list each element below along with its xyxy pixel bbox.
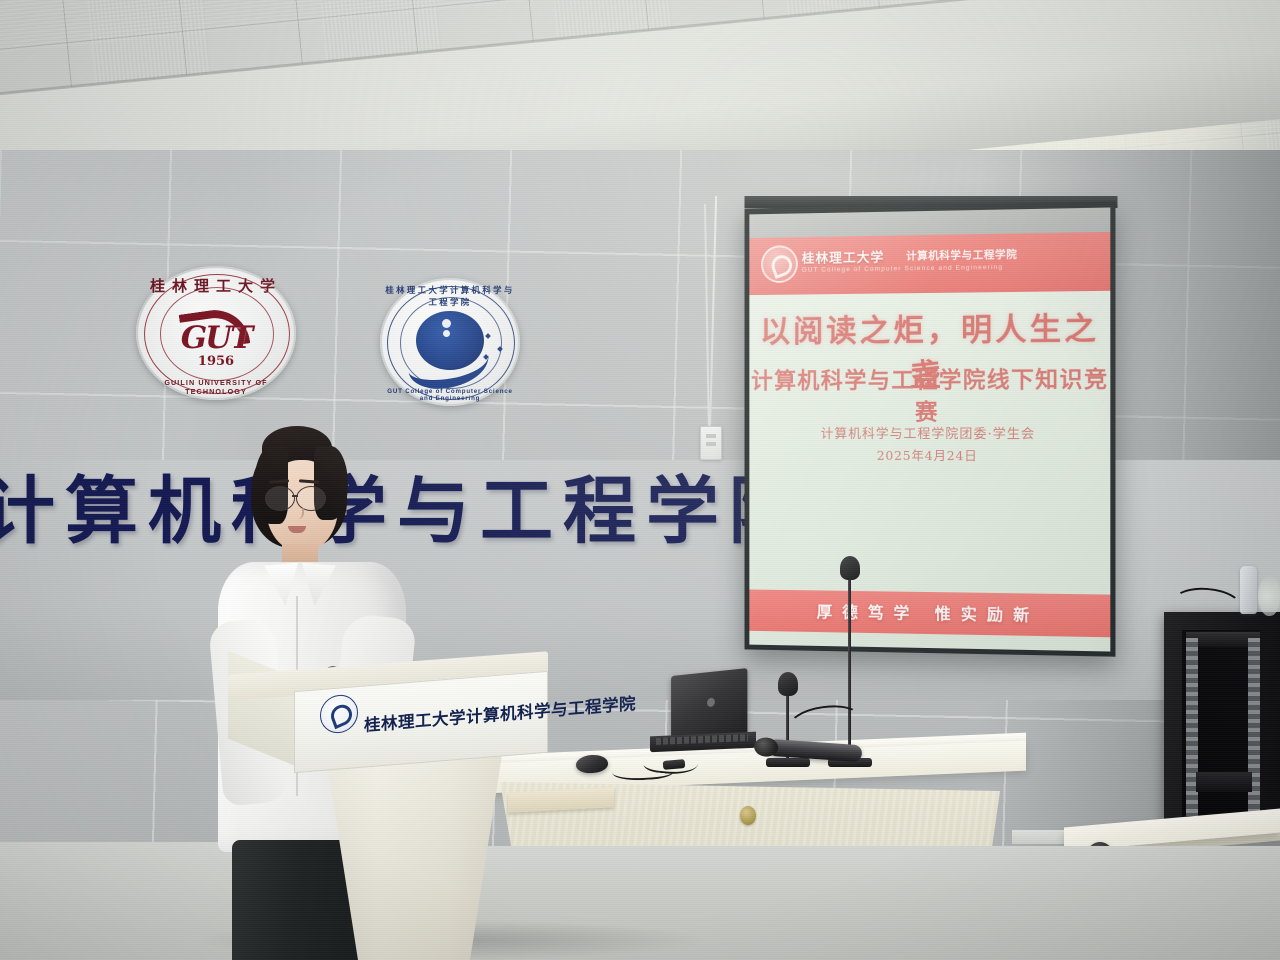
eyeglasses-bridge xyxy=(292,495,298,497)
slide-header-english: GUT College of Computer Science and Engi… xyxy=(802,264,1003,274)
emblem-cn-name: 桂林理工大学 xyxy=(136,275,296,296)
lectern-podium: 桂林理工大学计算机科学与工程学院 xyxy=(228,663,548,960)
emblem-en-name: GUILIN UNIVERSITY OF TECHNOLOGY xyxy=(136,378,296,396)
emblem-figure-icon xyxy=(442,319,451,328)
podium-side-panel xyxy=(228,651,298,767)
slide-footer-band: 厚德笃学 惟实励新 xyxy=(749,589,1110,637)
slide-date: 2025年4月24日 xyxy=(749,445,1110,465)
hair-left xyxy=(254,446,288,524)
projection-screen-frame: 桂林理工大学 计算机科学与工程学院 GUT College of Compute… xyxy=(745,201,1116,656)
gut-university-emblem: 桂林理工大学 GUT 1956 GUILIN UNIVERSITY OF TEC… xyxy=(136,266,296,400)
water-bottle xyxy=(1240,566,1257,614)
desk-cable-grommet xyxy=(740,806,756,825)
emblem-monogram: GUT xyxy=(136,320,296,356)
rack-shelf xyxy=(1196,772,1252,792)
presentation-slide: 桂林理工大学 计算机科学与工程学院 GUT College of Compute… xyxy=(749,208,1110,652)
slide-title-line2: 计算机科学与工程学院线下知识竞赛 xyxy=(749,362,1110,427)
usb-dongle xyxy=(663,759,686,770)
slide-header-band: 桂林理工大学 计算机科学与工程学院 GUT College of Compute… xyxy=(749,232,1110,295)
wall-control-switch[interactable] xyxy=(700,426,722,460)
laptop-logo-icon xyxy=(707,697,715,707)
emblem-cn-name: 桂林理工大学计算机科学与工程学院 xyxy=(380,284,520,308)
slide-footer-motto: 厚德笃学 惟实励新 xyxy=(749,597,1110,627)
decorative-plant xyxy=(1258,576,1280,616)
lecture-hall-photo: 桂林理工大学 GUT 1956 GUILIN UNIVERSITY OF TEC… xyxy=(0,0,1280,960)
gut-flame-logo-icon xyxy=(761,245,798,283)
college-of-computer-science-emblem: 桂林理工大学计算机科学与工程学院 GUT College of Computer… xyxy=(380,278,520,406)
slide-organizer: 计算机科学与工程学院团委·学生会 xyxy=(749,423,1110,442)
emblem-en-name: GUT College of Computer Science and Engi… xyxy=(380,388,520,402)
slide-header-college: 计算机科学与工程学院 xyxy=(906,247,1017,264)
eyeglasses-left-lens xyxy=(265,486,295,511)
projection-screen: 桂林理工大学 计算机科学与工程学院 GUT College of Compute… xyxy=(749,208,1110,652)
slide-header-university: 桂林理工大学 xyxy=(802,247,885,267)
podium-pedestal-shading xyxy=(314,755,514,960)
emblem-year: 1956 xyxy=(136,354,296,369)
